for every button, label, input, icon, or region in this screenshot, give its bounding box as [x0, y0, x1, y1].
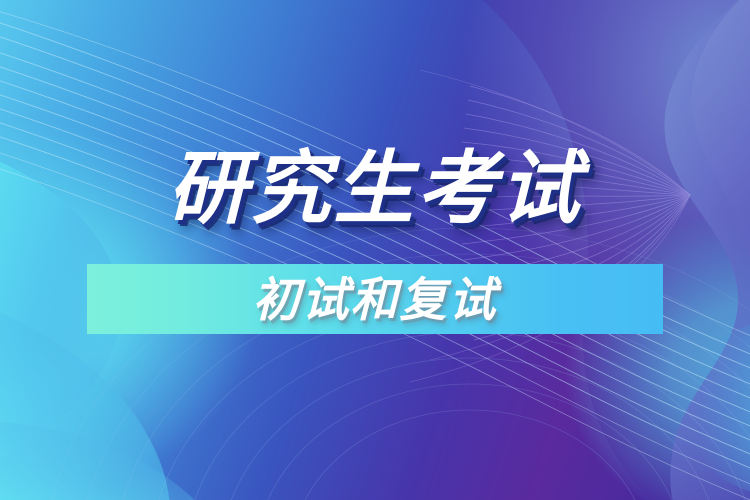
page-title: 研究生考试 — [168, 148, 583, 230]
subtitle-text: 初试和复试 — [253, 276, 498, 323]
concentric-arc-lines — [0, 0, 750, 500]
exam-banner: 研究生考试 初试和复试 — [0, 0, 750, 500]
title-block: 研究生考试 — [0, 148, 750, 230]
subtitle-bar: 初试和复试 — [87, 264, 663, 334]
